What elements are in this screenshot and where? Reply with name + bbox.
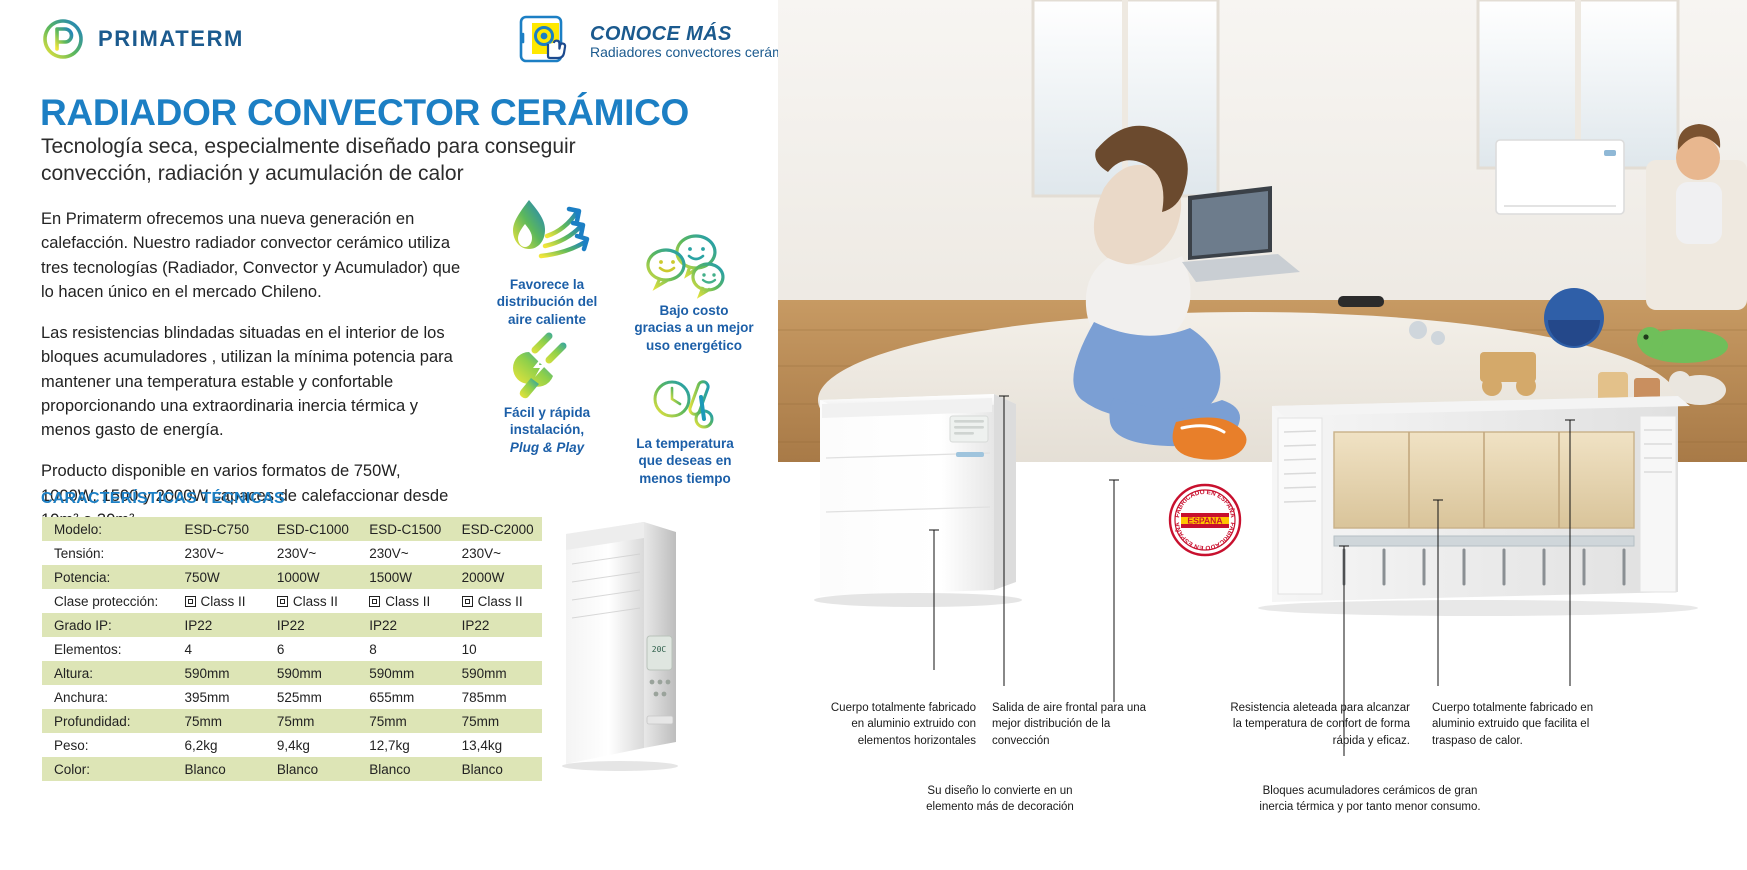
spec-label: Potencia: bbox=[42, 565, 173, 589]
spec-label: Peso: bbox=[42, 733, 173, 757]
spec-value: ESD-C1000 bbox=[265, 517, 357, 541]
intro-paragraph-1: En Primaterm ofrecemos una nueva generac… bbox=[41, 207, 461, 304]
spec-value: IP22 bbox=[173, 613, 265, 637]
brochure-page: PRIMATERM CONOCE MÁS Radiadores convecto… bbox=[0, 0, 1747, 870]
spec-label: Anchura: bbox=[42, 685, 173, 709]
subtitle-line-1: Tecnología seca, especialmente diseñado … bbox=[41, 134, 641, 161]
spec-value: 1000W bbox=[265, 565, 357, 589]
feature-airflow-line-2: distribución del bbox=[487, 293, 607, 310]
spec-value: ESD-C2000 bbox=[450, 517, 542, 541]
callout-ceramic-blocks: Bloques acumuladores cerámicos de gran i… bbox=[1255, 783, 1485, 816]
spec-label: Tensión: bbox=[42, 541, 173, 565]
conoce-mas-title: CONOCE MÁS bbox=[590, 24, 809, 45]
table-row: Anchura:395mm525mm655mm785mm bbox=[42, 685, 542, 709]
spec-value: 750W bbox=[173, 565, 265, 589]
phone-tap-icon bbox=[518, 14, 580, 70]
spec-value: 75mm bbox=[265, 709, 357, 733]
spec-value: 230V~ bbox=[450, 541, 542, 565]
table-row: Color:BlancoBlancoBlancoBlanco bbox=[42, 757, 542, 781]
spec-label: Modelo: bbox=[42, 517, 173, 541]
brand-logo: PRIMATERM bbox=[42, 18, 244, 60]
clock-thermometer-icon bbox=[620, 375, 750, 433]
power-plug-icon bbox=[487, 330, 607, 402]
callout-body-aluminium: Cuerpo totalmente fabricado en aluminio … bbox=[816, 700, 976, 749]
feature-fast-temp-line-3: menos tiempo bbox=[620, 470, 750, 487]
feature-airflow-line-3: aire caliente bbox=[487, 311, 607, 328]
spec-label: Profundidad: bbox=[42, 709, 173, 733]
table-row: Tensión:230V~230V~230V~230V~ bbox=[42, 541, 542, 565]
spec-label: Elementos: bbox=[42, 637, 173, 661]
feature-low-cost-line-3: uso energético bbox=[630, 337, 758, 354]
class-2-insulation-icon bbox=[369, 596, 380, 607]
spec-value: 4 bbox=[173, 637, 265, 661]
spec-value: 2000W bbox=[450, 565, 542, 589]
subtitle-line-2: convección, radiación y acumulación de c… bbox=[41, 161, 641, 188]
conoce-mas-subtitle: Radiadores convectores cerámicos bbox=[590, 45, 809, 60]
spec-value: 785mm bbox=[450, 685, 542, 709]
spec-value: 13,4kg bbox=[450, 733, 542, 757]
feature-low-cost-line-1: Bajo costo bbox=[630, 302, 758, 319]
class-2-insulation-icon bbox=[277, 596, 288, 607]
feature-fast-temp: La temperatura que deseas en menos tiemp… bbox=[620, 375, 750, 487]
product-photo-thermostat: 20C bbox=[548, 520, 728, 770]
spec-value: 75mm bbox=[357, 709, 449, 733]
primaterm-circle-p-logo-icon bbox=[42, 18, 84, 60]
spec-value: 1500W bbox=[357, 565, 449, 589]
intro-copy: En Primaterm ofrecemos una nueva generac… bbox=[41, 207, 461, 532]
table-row: Elementos:46810 bbox=[42, 637, 542, 661]
spec-value: 10 bbox=[450, 637, 542, 661]
spec-value: IP22 bbox=[450, 613, 542, 637]
spec-value: 230V~ bbox=[173, 541, 265, 565]
spec-value: 590mm bbox=[265, 661, 357, 685]
brand-name: PRIMATERM bbox=[98, 26, 244, 52]
spec-value: ESD-C1500 bbox=[357, 517, 449, 541]
spec-value-text: Class II bbox=[478, 594, 523, 609]
spec-value: Class II bbox=[173, 589, 265, 613]
table-row: Clase protección:Class IIClass IIClass I… bbox=[42, 589, 542, 613]
intro-paragraph-2: Las resistencias blindadas situadas en e… bbox=[41, 321, 461, 442]
class-2-insulation-icon bbox=[462, 596, 473, 607]
spec-value: Blanco bbox=[173, 757, 265, 781]
callout-aluminium-heat-transfer: Cuerpo totalmente fabricado en aluminio … bbox=[1432, 700, 1602, 749]
callout-design-decoration: Su diseño lo convierte en un elemento má… bbox=[905, 783, 1095, 816]
spec-value: Blanco bbox=[357, 757, 449, 781]
feature-easy-install-line-3: Plug & Play bbox=[487, 439, 607, 456]
spec-value-text: Class II bbox=[293, 594, 338, 609]
table-row: Profundidad:75mm75mm75mm75mm bbox=[42, 709, 542, 733]
callout-finned-resistance: Resistencia aleteada para alcanzar la te… bbox=[1230, 700, 1410, 749]
feature-easy-install-line-2: instalación, bbox=[487, 421, 607, 438]
spec-value: 590mm bbox=[173, 661, 265, 685]
spec-value: 8 bbox=[357, 637, 449, 661]
spec-value: Class II bbox=[265, 589, 357, 613]
spec-label: Clase protección: bbox=[42, 589, 173, 613]
spec-value: 230V~ bbox=[357, 541, 449, 565]
page-subtitle: Tecnología seca, especialmente diseñado … bbox=[41, 134, 641, 188]
callout-front-air-outlet: Salida de aire frontal para una mejor di… bbox=[992, 700, 1152, 749]
feature-fast-temp-line-1: La temperatura bbox=[620, 435, 750, 452]
spec-value: IP22 bbox=[265, 613, 357, 637]
spec-label: Color: bbox=[42, 757, 173, 781]
table-body: Modelo:ESD-C750ESD-C1000ESD-C1500ESD-C20… bbox=[42, 517, 542, 781]
table-row: Altura:590mm590mm590mm590mm bbox=[42, 661, 542, 685]
feature-easy-install: Fácil y rápida instalación, Plug & Play bbox=[487, 330, 607, 456]
spec-value: Class II bbox=[357, 589, 449, 613]
spec-value: 590mm bbox=[450, 661, 542, 685]
product-cutaway-unit bbox=[1258, 396, 1698, 616]
spec-value: IP22 bbox=[357, 613, 449, 637]
flame-airflow-icon bbox=[487, 196, 607, 274]
svg-text:20C: 20C bbox=[652, 645, 667, 654]
feature-low-cost-line-2: gracias a un mejor bbox=[630, 319, 758, 336]
spec-value-text: Class II bbox=[385, 594, 430, 609]
feature-fast-temp-line-2: que deseas en bbox=[620, 452, 750, 469]
spec-value: Blanco bbox=[265, 757, 357, 781]
product-closed-unit bbox=[814, 394, 1022, 607]
spec-value: 75mm bbox=[173, 709, 265, 733]
table-row: Grado IP:IP22IP22IP22IP22 bbox=[42, 613, 542, 637]
spec-value: 6 bbox=[265, 637, 357, 661]
table-row: Potencia:750W1000W1500W2000W bbox=[42, 565, 542, 589]
table-row: Peso:6,2kg9,4kg12,7kg13,4kg bbox=[42, 733, 542, 757]
feature-airflow-line-1: Favorece la bbox=[487, 276, 607, 293]
spec-value: 590mm bbox=[357, 661, 449, 685]
class-2-insulation-icon bbox=[185, 596, 196, 607]
spec-value: 75mm bbox=[450, 709, 542, 733]
spec-label: Altura: bbox=[42, 661, 173, 685]
spec-value: 655mm bbox=[357, 685, 449, 709]
tech-specs-heading: CARACTERÍSTICAS TÉCNICAS bbox=[41, 490, 285, 508]
tech-specs-table: Modelo:ESD-C750ESD-C1000ESD-C1500ESD-C20… bbox=[42, 517, 542, 781]
spec-value-text: Class II bbox=[201, 594, 246, 609]
spec-value: 9,4kg bbox=[265, 733, 357, 757]
feature-low-cost: Bajo costo gracias a un mejor uso energé… bbox=[630, 234, 758, 354]
smiley-speech-bubbles-icon bbox=[630, 234, 758, 300]
page-title: RADIADOR CONVECTOR CERÁMICO bbox=[40, 92, 689, 134]
feature-easy-install-line-1: Fácil y rápida bbox=[487, 404, 607, 421]
spec-value: 525mm bbox=[265, 685, 357, 709]
table-row: Modelo:ESD-C750ESD-C1000ESD-C1500ESD-C20… bbox=[42, 517, 542, 541]
spec-value: 395mm bbox=[173, 685, 265, 709]
conoce-mas-cta[interactable]: CONOCE MÁS Radiadores convectores cerámi… bbox=[518, 14, 809, 70]
spec-value: Class II bbox=[450, 589, 542, 613]
spec-value: 230V~ bbox=[265, 541, 357, 565]
spec-label: Grado IP: bbox=[42, 613, 173, 637]
spec-value: 6,2kg bbox=[173, 733, 265, 757]
feature-airflow: Favorece la distribución del aire calien… bbox=[487, 196, 607, 328]
spec-value: ESD-C750 bbox=[173, 517, 265, 541]
spec-value: Blanco bbox=[450, 757, 542, 781]
spec-value: 12,7kg bbox=[357, 733, 449, 757]
